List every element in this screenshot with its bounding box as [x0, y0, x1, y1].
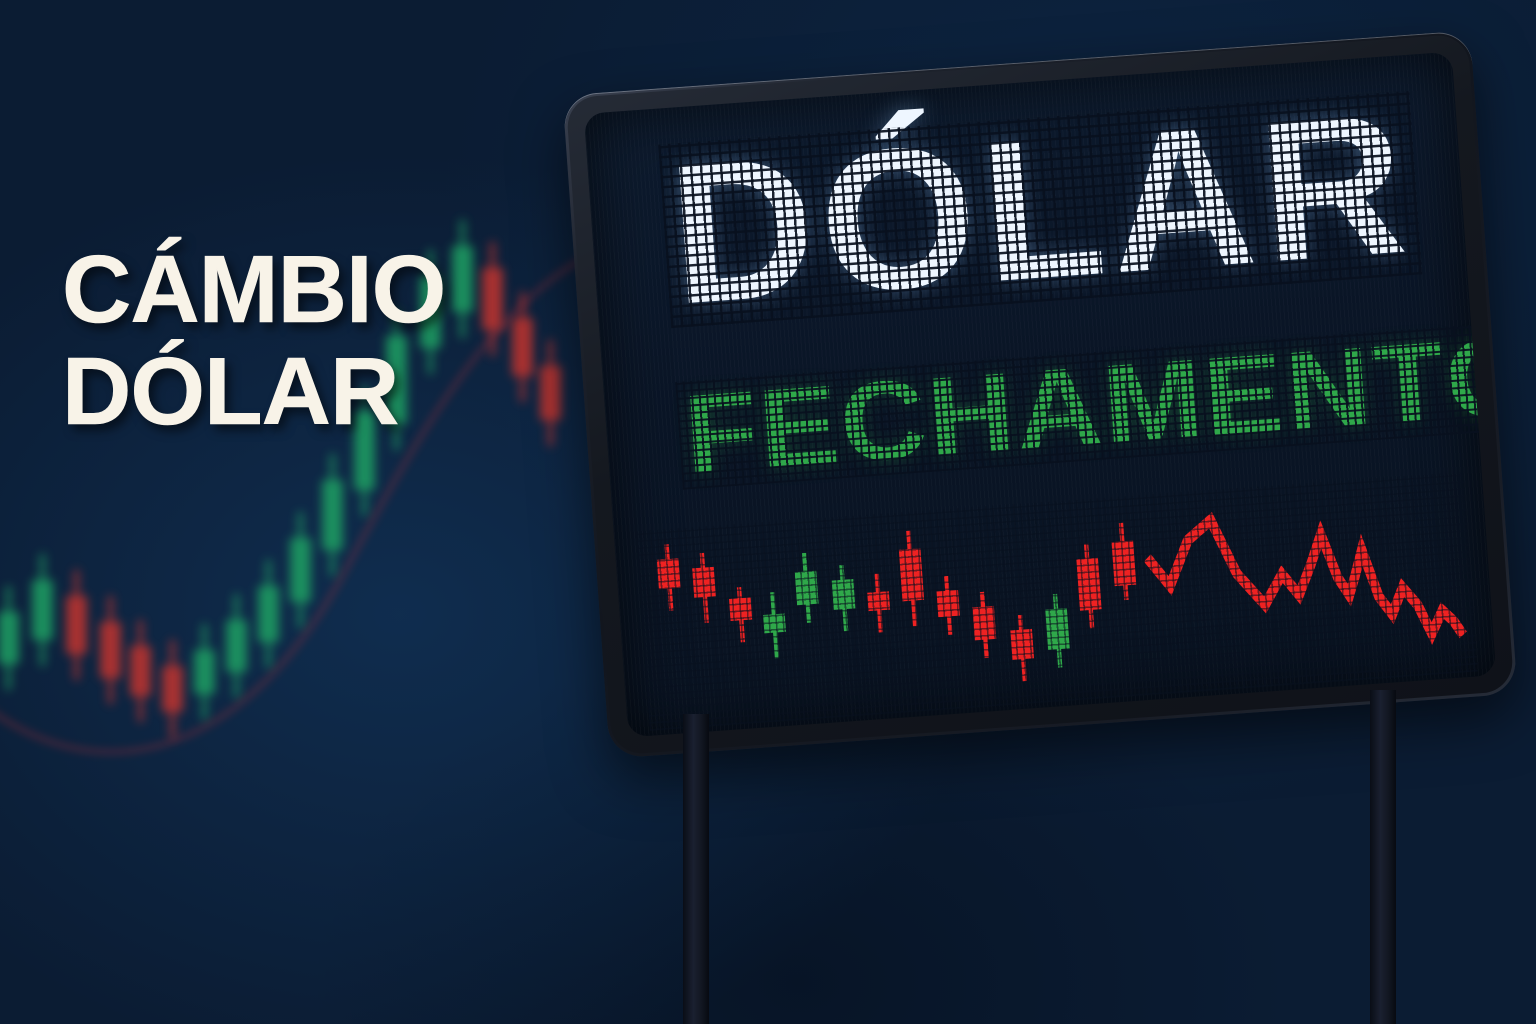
- billboard-title: DÓLAR: [665, 97, 1416, 322]
- candle-body: [795, 571, 819, 606]
- candle-body: [972, 606, 996, 641]
- led-title-wrap: DÓLAR: [665, 97, 1416, 322]
- candle-body: [899, 548, 924, 601]
- candle-body: [1045, 608, 1069, 650]
- candle-body: [657, 558, 681, 589]
- candle-body: [832, 579, 856, 610]
- candle-body: [1076, 558, 1101, 611]
- led-subtitle-wrap: FECHAMENTO: [682, 330, 1495, 484]
- candle-body: [937, 590, 960, 617]
- candle-body: [1112, 541, 1137, 587]
- billboard-screen: DÓLAR FECHAMENTO: [584, 52, 1496, 738]
- billboard-post-right: [1370, 690, 1396, 1024]
- trend-line: [1145, 503, 1463, 657]
- screenshot-root: CÁMBIO DÓLAR DÓLAR FECHAMENTO: [0, 0, 1536, 1024]
- candle-body: [729, 597, 752, 621]
- page-title: CÁMBIO DÓLAR: [62, 246, 582, 437]
- candle-body: [867, 591, 890, 611]
- billboard-subtitle: FECHAMENTO: [682, 326, 1497, 483]
- billboard-post-left: [683, 714, 709, 1024]
- candle-body: [763, 613, 786, 633]
- candle-body: [1010, 629, 1034, 660]
- headline-line-1: CÁMBIO: [62, 236, 445, 343]
- billboard: DÓLAR FECHAMENTO: [562, 30, 1517, 758]
- candle-body: [692, 567, 716, 598]
- headline-line-2: DÓLAR: [62, 348, 582, 436]
